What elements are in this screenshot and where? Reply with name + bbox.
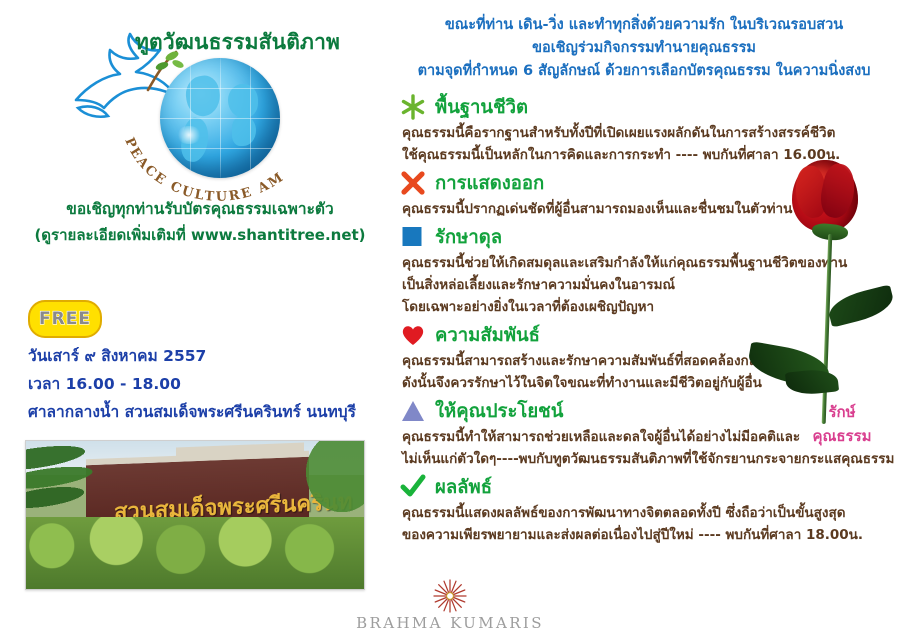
event-venue: ศาลากลางน้ำ สวนสมเด็จพระศรีนครินทร์ นนทบ…	[28, 398, 388, 426]
virtue-sections: พื้นฐานชีวิต คุณธรรมนี้คือรากฐานสำหรับทั…	[400, 92, 900, 548]
red-heart-icon	[400, 322, 426, 348]
green-check-icon	[400, 474, 426, 500]
organization-name: BRAHMA KUMARIS	[0, 614, 900, 632]
orange-x-icon	[400, 170, 426, 196]
section-body-line: คุณธรรมนี้แสดงผลลัพธ์ของการพัฒนาทางจิตตล…	[402, 502, 900, 524]
free-badge: FREE	[28, 300, 102, 338]
section-title: พื้นฐานชีวิต	[435, 93, 528, 122]
svg-text:PEACE CULTURE AMBASSADOR: PEACE CULTURE AMBASSADOR	[118, 130, 288, 205]
section-body-line: คุณธรรมนี้ปรากฏเด่นชัดที่ผู้อื่นสามารถมอ…	[402, 198, 900, 220]
section-title: การแสดงออก	[435, 169, 544, 198]
section-body: คุณธรรมนี้แสดงผลลัพธ์ของการพัฒนาทางจิตตล…	[402, 502, 900, 546]
purple-triangle-icon	[400, 398, 426, 424]
event-details: วันเสาร์ ๙ สิงหาคม 2557 เวลา 16.00 - 18.…	[28, 342, 388, 426]
left-column: ทูตวัฒนธรรมสันติภาพ PEACE CULTURE AMBASS…	[0, 0, 400, 636]
section-body-line: คุณธรรมนี้ช่วยให้เกิดสมดุลและเสริมกำลังใ…	[402, 252, 900, 274]
arc-text-label: PEACE CULTURE AMBASSADOR	[118, 130, 288, 205]
section-body-line: คุณธรรมนี้คือรากฐานสำหรับทั้งปีที่เปิดเผ…	[402, 122, 900, 144]
invite-line-2: (ดูรายละเอียดเพิ่มเติมที่ www.shantitree…	[0, 222, 400, 248]
pink-handwritten-note: รักษ์ คุณธรรม	[792, 400, 892, 448]
header-line-3: ตามจุดที่กำหนด 6 สัญลักษณ์ ด้วยการเลือกบ…	[388, 60, 900, 83]
park-entrance-photo: สวนสมเด็จพระศรีนครินท	[25, 440, 365, 590]
header-line-1: ขณะที่ท่าน เดิน-วิ่ง และทำทุกสิ่งด้วยควา…	[388, 14, 900, 37]
section-balance: รักษาดุล คุณธรรมนี้ช่วยให้เกิดสมดุลและเส…	[400, 222, 900, 318]
section-body: คุณธรรมนี้สามารถสร้างและรักษาความสัมพันธ…	[402, 350, 900, 394]
event-time: เวลา 16.00 - 18.00	[28, 370, 388, 398]
section-body-line: ใช้คุณธรรมนี้เป็นหลักในการคิดและการกระทำ…	[402, 144, 900, 166]
section-body: คุณธรรมนี้คือรากฐานสำหรับทั้งปีที่เปิดเผ…	[402, 122, 900, 166]
section-body-line: โดยเฉพาะอย่างยิ่งในเวลาที่ต้องเผชิญปัญหา	[402, 296, 900, 318]
poster: ทูตวัฒนธรรมสันติภาพ PEACE CULTURE AMBASS…	[0, 0, 900, 636]
pink-note-line-2: คุณธรรม	[792, 424, 892, 448]
section-foundation: พื้นฐานชีวิต คุณธรรมนี้คือรากฐานสำหรับทั…	[400, 92, 900, 166]
section-body-line: เป็นสิ่งหล่อเลี้ยงและรักษาความมั่นคงในอา…	[402, 274, 900, 296]
event-date: วันเสาร์ ๙ สิงหาคม 2557	[28, 342, 388, 370]
section-body-line: คุณธรรมนี้สามารถสร้างและรักษาความสัมพันธ…	[402, 350, 900, 372]
sunburst-icon	[433, 579, 467, 613]
section-title: ผลลัพธ์	[435, 473, 492, 502]
invite-line-1: ขอเชิญทุกท่านรับบัตรคุณธรรมเฉพาะตัว	[0, 196, 400, 222]
section-body-line: ของความเพียรพยายามและส่งผลต่อเนื่องไปสู่…	[402, 524, 900, 546]
header-line-2: ขอเชิญร่วมกิจกรรมทำนายคุณธรรม	[388, 37, 900, 60]
section-title: รักษาดุล	[435, 223, 502, 252]
section-result: ผลลัพธ์ คุณธรรมนี้แสดงผลลัพธ์ของการพัฒนา…	[400, 472, 900, 546]
green-asterisk-icon	[400, 94, 426, 120]
section-expression: การแสดงออก คุณธรรมนี้ปรากฏเด่นชัดที่ผู้อ…	[400, 168, 900, 220]
blue-square-icon	[400, 224, 426, 250]
section-body-line: ไม่เห็นแก่ตัวใดๆ----พบกับทูตวัฒนธรรมสันต…	[402, 448, 900, 470]
section-title: ความสัมพันธ์	[435, 321, 540, 350]
free-badge-label: FREE	[39, 309, 91, 329]
section-body: คุณธรรมนี้ปรากฏเด่นชัดที่ผู้อื่นสามารถมอ…	[402, 198, 900, 220]
section-relationship: ความสัมพันธ์ คุณธรรมนี้สามารถสร้างและรัก…	[400, 320, 900, 394]
section-body-line: ดังนั้นจึงควรรักษาไว้ในจิตใจขณะที่ทำงานแ…	[402, 372, 900, 394]
section-body: คุณธรรมนี้ช่วยให้เกิดสมดุลและเสริมกำลังใ…	[402, 252, 900, 318]
brahma-kumaris-footer: BRAHMA KUMARIS	[0, 579, 900, 632]
invite-block: ขอเชิญทุกท่านรับบัตรคุณธรรมเฉพาะตัว (ดูร…	[0, 196, 400, 248]
logo-title: ทูตวัฒนธรรมสันติภาพ	[135, 26, 340, 59]
pink-note-line-1: รักษ์	[792, 400, 892, 424]
header-block: ขณะที่ท่าน เดิน-วิ่ง และทำทุกสิ่งด้วยควา…	[388, 14, 900, 83]
organization-logo: ทูตวัฒนธรรมสันติภาพ PEACE CULTURE AMBASS…	[30, 10, 370, 190]
right-column: ขณะที่ท่าน เดิน-วิ่ง และทำทุกสิ่งด้วยควา…	[388, 0, 900, 636]
section-title: ให้คุณประโยชน์	[435, 397, 563, 426]
